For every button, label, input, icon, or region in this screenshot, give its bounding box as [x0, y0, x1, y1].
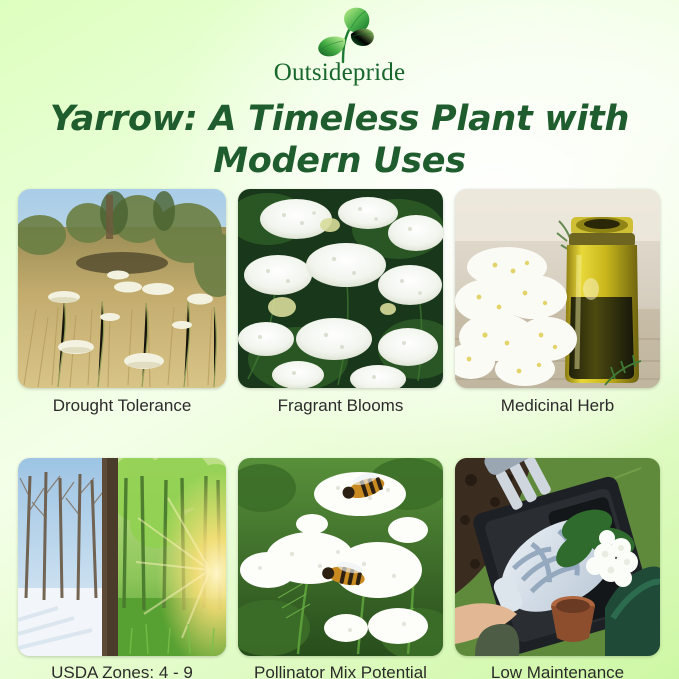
page-title: Yarrow: A Timeless Plant with Modern Use… — [40, 99, 640, 182]
row-spacer — [18, 416, 226, 458]
brand-wordmark: Outsidepride — [274, 60, 406, 85]
row-spacer — [455, 416, 660, 458]
caption-fragrant-blooms: Fragrant Blooms — [238, 388, 443, 416]
page-title-line-2: Modern Uses — [40, 141, 640, 183]
infographic-page: Outsidepride Yarrow: A Timeless Plant wi… — [0, 0, 679, 679]
essential-oil-bottle-with-yarrow-photo — [455, 189, 660, 388]
gallery-cell: Medicinal Herb — [455, 189, 660, 416]
gallery-cell: Pollinator Mix Potential — [238, 458, 443, 679]
gardening-gloves-planting-photo — [455, 458, 660, 656]
arid-meadow-with-yarrow-photo — [18, 189, 226, 388]
gallery-cell: USDA Zones: 4 - 9 — [18, 458, 226, 679]
caption-low-maintenance: Low Maintenance — [455, 656, 660, 679]
gallery-cell: Drought Tolerance — [18, 189, 226, 416]
row-spacer — [238, 416, 443, 458]
gallery-cell: Low Maintenance — [455, 458, 660, 679]
caption-medicinal-herb: Medicinal Herb — [455, 388, 660, 416]
gallery-cell: Fragrant Blooms — [238, 189, 443, 416]
winter-summer-split-forest-photo — [18, 458, 226, 656]
honeybees-on-yarrow-photo — [238, 458, 443, 656]
caption-usda-zones: USDA Zones: 4 - 9 — [18, 656, 226, 679]
page-title-line-1: Yarrow: A Timeless Plant with — [50, 99, 629, 139]
white-yarrow-flower-clusters-photo — [238, 189, 443, 388]
caption-drought-tolerance: Drought Tolerance — [18, 388, 226, 416]
caption-pollinator-mix-potential: Pollinator Mix Potential — [238, 656, 443, 679]
leaf-sprout-icon — [281, 6, 399, 64]
feature-gallery: Drought Tolerance — [18, 189, 661, 679]
brand-header: Outsidepride — [0, 0, 679, 85]
